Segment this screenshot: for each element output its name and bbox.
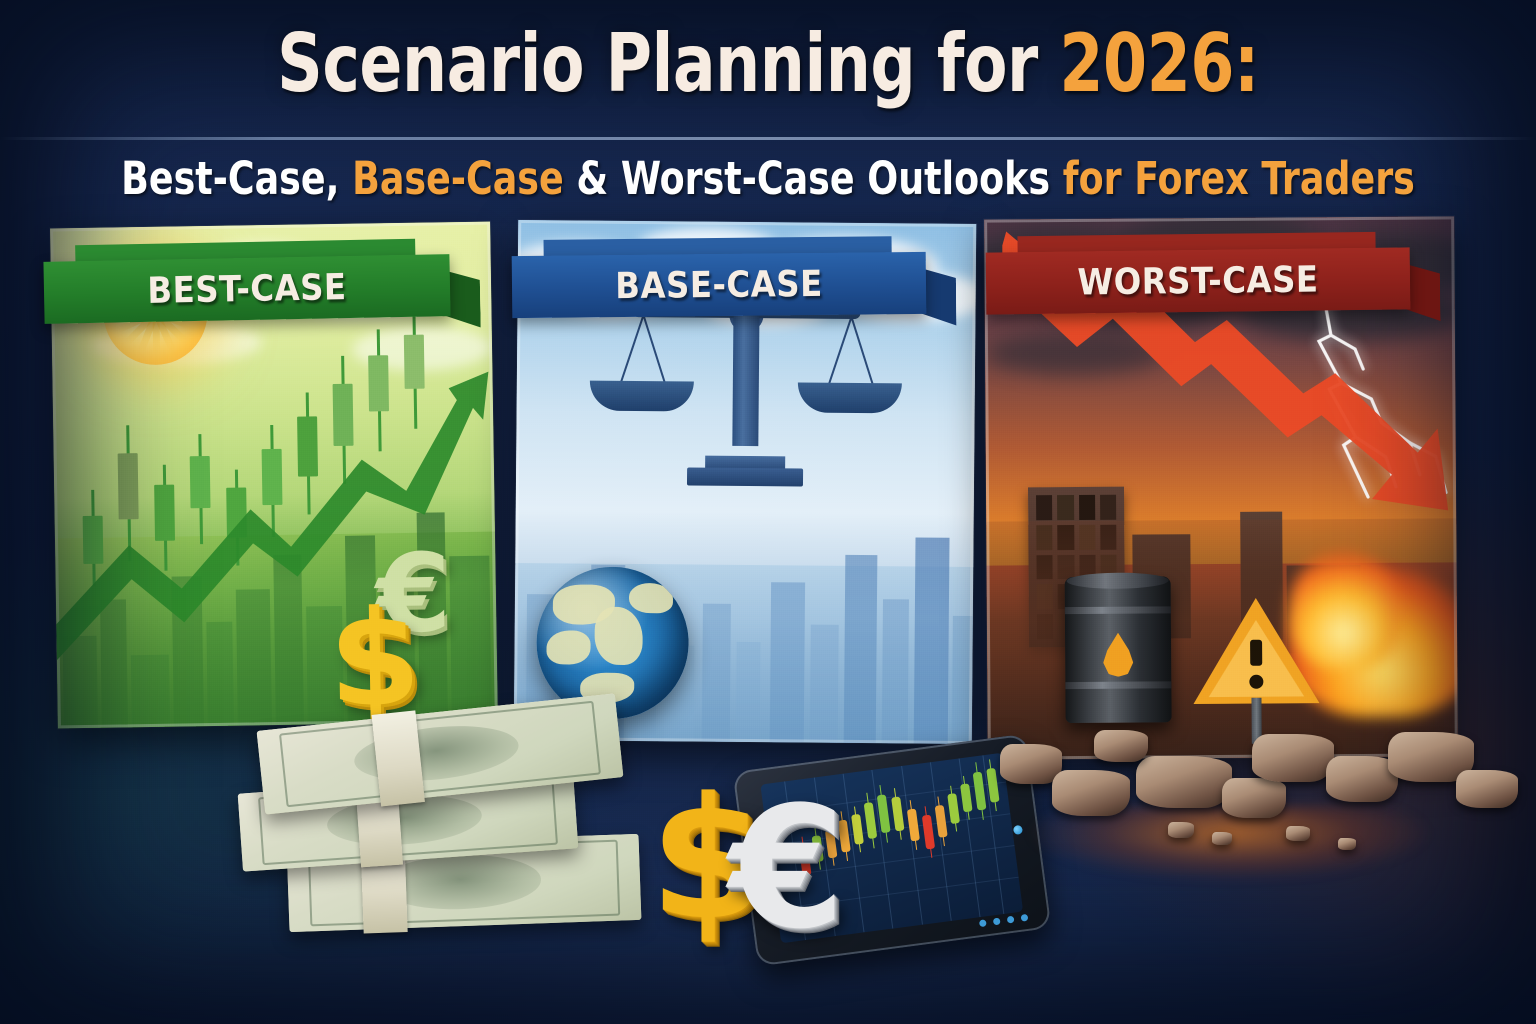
rubble-icon — [986, 716, 1536, 916]
banner-worst-case-label: WORST-CASE — [986, 247, 1411, 314]
page-subtitle: Best-Case, Base-Case & Worst-Case Outloo… — [77, 154, 1459, 204]
page-title-orange-part: 2026: — [1059, 17, 1258, 110]
header-divider — [0, 137, 1536, 140]
euro-sign-3d: € — [714, 792, 860, 944]
subtitle-part-1: Best-Case, — [121, 152, 352, 205]
banner-best-case-label: BEST-CASE — [43, 254, 450, 324]
banner-worst-case[interactable]: WORST-CASE — [986, 247, 1411, 314]
subtitle-part-2: Base-Case — [352, 152, 564, 205]
banner-base-case[interactable]: BASE-CASE — [512, 252, 927, 318]
banner-base-case-label: BASE-CASE — [512, 252, 927, 318]
banner-best-case[interactable]: BEST-CASE — [43, 254, 450, 324]
poster-canvas: Scenario Planning for 2026: Best-Case, B… — [0, 0, 1536, 1024]
subtitle-part-4: for Forex Traders — [1063, 152, 1415, 205]
header-block: Scenario Planning for 2026: Best-Case, B… — [0, 0, 1536, 215]
cash-band — [372, 710, 425, 806]
subtitle-part-3: & Worst-Case Outlooks — [564, 152, 1063, 205]
page-title-white-part: Scenario Planning for — [277, 17, 1059, 110]
page-title: Scenario Planning for 2026: — [92, 22, 1444, 106]
cash-bundles[interactable] — [232, 694, 652, 944]
